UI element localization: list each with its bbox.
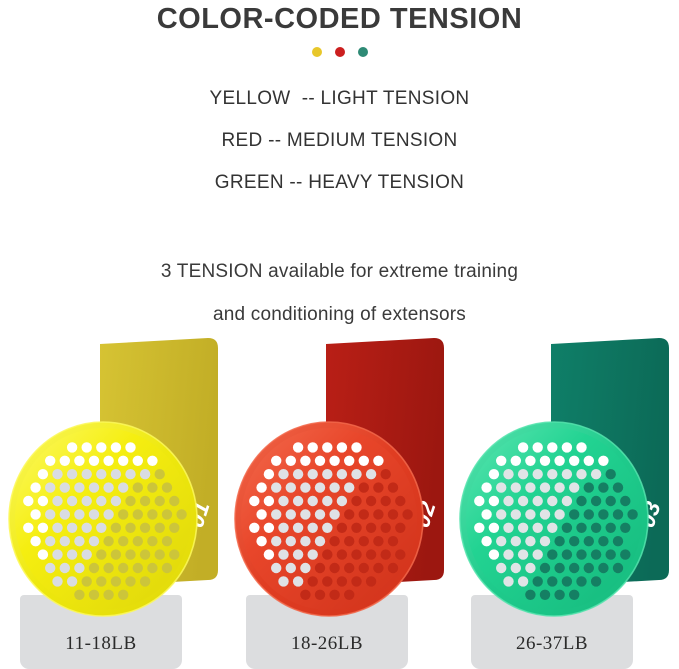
disc-hole xyxy=(359,509,369,519)
header: COLOR-CODED TENSION xyxy=(0,0,679,58)
disc-hole xyxy=(503,576,513,586)
resistance-disc[interactable] xyxy=(6,419,200,619)
disc-hole xyxy=(359,456,369,466)
disc-hole xyxy=(554,509,564,519)
disc-hole xyxy=(155,523,165,533)
disc-hole xyxy=(315,482,325,492)
disc-hole xyxy=(540,509,550,519)
disc-hole xyxy=(89,482,99,492)
disc-hole xyxy=(256,482,266,492)
disc-hole xyxy=(562,576,572,586)
disc-hole xyxy=(140,496,150,506)
disc-hole xyxy=(562,523,572,533)
disc-hole xyxy=(366,496,376,506)
disc-hole xyxy=(60,456,70,466)
disc-hole xyxy=(337,576,347,586)
disc-hole xyxy=(598,482,608,492)
disc-hole xyxy=(481,509,491,519)
tension-legend-list: YELLOW -- LIGHT TENSIONRED -- MEDIUM TEN… xyxy=(0,78,679,204)
legend-dot-row xyxy=(0,46,679,58)
disc-hole xyxy=(598,563,608,573)
disc-hole xyxy=(576,442,586,452)
description-block: 3 TENSION available for extreme training… xyxy=(0,250,679,336)
tension-line-1: RED -- MEDIUM TENSION xyxy=(0,120,679,162)
green-dot xyxy=(358,47,368,57)
disc-hole xyxy=(96,469,106,479)
disc-hole xyxy=(366,523,376,533)
disc-hole xyxy=(155,549,165,559)
disc-hole xyxy=(147,536,157,546)
disc-hole xyxy=(598,509,608,519)
disc-hole xyxy=(620,523,630,533)
disc-hole xyxy=(547,442,557,452)
disc-hole xyxy=(496,563,506,573)
disc-hole xyxy=(147,509,157,519)
disc-hole xyxy=(503,469,513,479)
disc-hole xyxy=(67,523,77,533)
disc-hole xyxy=(344,482,354,492)
disc-hole xyxy=(74,456,84,466)
disc-hole xyxy=(300,536,310,546)
disc-hole xyxy=(518,549,528,559)
disc-hole xyxy=(540,536,550,546)
disc-hole xyxy=(315,456,325,466)
disc-hole xyxy=(52,576,62,586)
disc-hole xyxy=(140,523,150,533)
disc-hole xyxy=(74,482,84,492)
disc-hole xyxy=(518,469,528,479)
disc-hole xyxy=(308,469,318,479)
disc-hole xyxy=(322,442,332,452)
disc-hole xyxy=(155,469,165,479)
disc-hole xyxy=(533,496,543,506)
disc-hole xyxy=(373,536,383,546)
disc-hole xyxy=(60,536,70,546)
disc-hole xyxy=(300,563,310,573)
disc-hole xyxy=(540,482,550,492)
disc-hole xyxy=(337,523,347,533)
disc-hole xyxy=(162,536,172,546)
disc-hole xyxy=(344,563,354,573)
disc-hole xyxy=(591,469,601,479)
disc-hole xyxy=(147,563,157,573)
disc-hole xyxy=(359,536,369,546)
disc-hole xyxy=(293,442,303,452)
disc-hole xyxy=(308,442,318,452)
perforated-disc xyxy=(457,419,651,619)
disc-hole xyxy=(38,469,48,479)
disc-hole xyxy=(373,456,383,466)
perforated-disc xyxy=(232,419,426,619)
disc-hole xyxy=(118,563,128,573)
disc-hole xyxy=(89,536,99,546)
disc-hole xyxy=(576,523,586,533)
disc-hole xyxy=(576,496,586,506)
disc-hole xyxy=(169,523,179,533)
disc-hole xyxy=(388,536,398,546)
disc-hole xyxy=(293,576,303,586)
disc-hole xyxy=(351,523,361,533)
disc-hole xyxy=(293,469,303,479)
disc-hole xyxy=(474,496,484,506)
disc-hole xyxy=(351,549,361,559)
disc-hole xyxy=(103,536,113,546)
disc-hole xyxy=(125,496,135,506)
disc-hole xyxy=(381,549,391,559)
disc-hole xyxy=(503,549,513,559)
disc-hole xyxy=(271,536,281,546)
disc-hole xyxy=(329,482,339,492)
resistance-disc[interactable] xyxy=(457,419,651,619)
disc-hole xyxy=(569,456,579,466)
disc-hole xyxy=(67,576,77,586)
disc-hole xyxy=(264,523,274,533)
disc-hole xyxy=(533,469,543,479)
disc-hole xyxy=(52,496,62,506)
disc-hole xyxy=(584,456,594,466)
disc-hole xyxy=(96,496,106,506)
yellow-dot xyxy=(312,47,322,57)
disc-hole xyxy=(103,456,113,466)
disc-hole xyxy=(89,590,99,600)
disc-hole xyxy=(45,536,55,546)
disc-hole xyxy=(256,536,266,546)
disc-hole xyxy=(576,469,586,479)
disc-hole xyxy=(67,469,77,479)
disc-hole xyxy=(344,456,354,466)
disc-hole xyxy=(591,576,601,586)
disc-hole xyxy=(496,482,506,492)
disc-hole xyxy=(111,549,121,559)
disc-hole xyxy=(584,536,594,546)
disc-hole xyxy=(627,509,637,519)
disc-hole xyxy=(366,469,376,479)
disc-hole xyxy=(351,442,361,452)
disc-hole xyxy=(481,536,491,546)
disc-hole xyxy=(60,563,70,573)
disc-hole xyxy=(256,509,266,519)
disc-hole xyxy=(322,523,332,533)
disc-hole xyxy=(264,496,274,506)
disc-hole xyxy=(569,590,579,600)
disc-hole xyxy=(103,509,113,519)
disc-hole xyxy=(518,496,528,506)
disc-hole xyxy=(569,536,579,546)
disc-hole xyxy=(308,496,318,506)
disc-hole xyxy=(329,456,339,466)
disc-hole xyxy=(162,563,172,573)
disc-hole xyxy=(89,456,99,466)
disc-hole xyxy=(518,576,528,586)
product-row: 11-18LB0118-26LB0226-37LB03 xyxy=(0,335,679,669)
disc-hole xyxy=(286,536,296,546)
disc-hole xyxy=(118,536,128,546)
disc-hole xyxy=(337,549,347,559)
disc-hole xyxy=(373,563,383,573)
disc-hole xyxy=(481,482,491,492)
disc-hole xyxy=(125,469,135,479)
disc-hole xyxy=(525,536,535,546)
disc-hole xyxy=(373,482,383,492)
disc-hole xyxy=(82,496,92,506)
disc-hole xyxy=(308,576,318,586)
disc-hole xyxy=(337,442,347,452)
disc-hole xyxy=(111,442,121,452)
disc-hole xyxy=(554,456,564,466)
disc-hole xyxy=(118,509,128,519)
disc-hole xyxy=(52,523,62,533)
disc-hole xyxy=(518,442,528,452)
disc-hole xyxy=(82,549,92,559)
disc-hole xyxy=(395,496,405,506)
disc-hole xyxy=(373,509,383,519)
disc-hole xyxy=(381,469,391,479)
disc-hole xyxy=(547,469,557,479)
page-title: COLOR-CODED TENSION xyxy=(0,0,679,36)
disc-hole xyxy=(554,563,564,573)
disc-hole xyxy=(322,549,332,559)
disc-hole xyxy=(381,523,391,533)
disc-hole xyxy=(525,509,535,519)
disc-hole xyxy=(118,482,128,492)
disc-hole xyxy=(496,536,506,546)
disc-hole xyxy=(74,563,84,573)
disc-hole xyxy=(169,549,179,559)
disc-hole xyxy=(308,549,318,559)
disc-hole xyxy=(351,576,361,586)
disc-hole xyxy=(511,509,521,519)
disc-hole xyxy=(45,456,55,466)
disc-hole xyxy=(576,549,586,559)
disc-hole xyxy=(540,456,550,466)
disc-hole xyxy=(322,576,332,586)
disc-hole xyxy=(315,536,325,546)
disc-hole xyxy=(503,523,513,533)
disc-hole xyxy=(249,496,259,506)
product-card-01[interactable]: 11-18LB01 xyxy=(2,335,228,669)
red-dot xyxy=(335,47,345,57)
disc-hole xyxy=(278,523,288,533)
disc-hole xyxy=(147,456,157,466)
disc-hole xyxy=(67,549,77,559)
disc-hole xyxy=(547,549,557,559)
disc-hole xyxy=(96,523,106,533)
disc-hole xyxy=(344,536,354,546)
disc-hole xyxy=(613,509,623,519)
disc-hole xyxy=(52,469,62,479)
disc-hole xyxy=(511,456,521,466)
disc-hole xyxy=(118,590,128,600)
disc-hole xyxy=(133,536,143,546)
disc-hole xyxy=(38,496,48,506)
disc-hole xyxy=(329,509,339,519)
disc-hole xyxy=(598,456,608,466)
product-card-02[interactable]: 18-26LB02 xyxy=(228,335,454,669)
tension-range-label: 18-26LB xyxy=(246,633,408,655)
disc-hole xyxy=(293,496,303,506)
disc-hole xyxy=(337,496,347,506)
disc-hole xyxy=(489,496,499,506)
disc-hole xyxy=(74,536,84,546)
disc-hole xyxy=(584,563,594,573)
disc-hole xyxy=(584,509,594,519)
disc-hole xyxy=(82,469,92,479)
disc-hole xyxy=(344,590,354,600)
disc-hole xyxy=(525,456,535,466)
disc-hole xyxy=(89,509,99,519)
disc-hole xyxy=(300,590,310,600)
disc-hole xyxy=(278,496,288,506)
disc-hole xyxy=(329,536,339,546)
disc-hole xyxy=(23,496,33,506)
disc-hole xyxy=(249,523,259,533)
disc-hole xyxy=(38,549,48,559)
disc-hole xyxy=(620,496,630,506)
disc-hole xyxy=(271,509,281,519)
disc-hole xyxy=(554,590,564,600)
disc-hole xyxy=(562,469,572,479)
disc-hole xyxy=(606,469,616,479)
disc-hole xyxy=(511,563,521,573)
disc-hole xyxy=(30,509,40,519)
disc-hole xyxy=(278,549,288,559)
disc-hole xyxy=(140,576,150,586)
disc-hole xyxy=(23,523,33,533)
disc-hole xyxy=(388,563,398,573)
disc-hole xyxy=(286,563,296,573)
disc-hole xyxy=(111,469,121,479)
disc-hole xyxy=(133,482,143,492)
description-line-0: 3 TENSION available for extreme training xyxy=(0,250,679,293)
disc-hole xyxy=(540,590,550,600)
disc-hole xyxy=(489,523,499,533)
tension-range-label: 26-37LB xyxy=(471,633,633,655)
disc-hole xyxy=(293,523,303,533)
disc-hole xyxy=(125,576,135,586)
disc-hole xyxy=(547,576,557,586)
product-card-03[interactable]: 26-37LB03 xyxy=(453,335,679,669)
disc-hole xyxy=(45,482,55,492)
disc-hole xyxy=(606,523,616,533)
disc-hole xyxy=(525,482,535,492)
disc-hole xyxy=(45,563,55,573)
disc-hole xyxy=(74,509,84,519)
disc-hole xyxy=(140,549,150,559)
disc-hole xyxy=(103,482,113,492)
disc-hole xyxy=(569,563,579,573)
disc-hole xyxy=(67,496,77,506)
disc-hole xyxy=(67,442,77,452)
disc-hole xyxy=(395,523,405,533)
disc-hole xyxy=(496,509,506,519)
disc-hole xyxy=(547,523,557,533)
disc-hole xyxy=(613,482,623,492)
disc-hole xyxy=(125,549,135,559)
tension-line-0: YELLOW -- LIGHT TENSION xyxy=(0,78,679,120)
disc-hole xyxy=(74,590,84,600)
disc-hole xyxy=(162,509,172,519)
disc-hole xyxy=(300,509,310,519)
disc-hole xyxy=(264,469,274,479)
disc-hole xyxy=(489,549,499,559)
disc-hole xyxy=(366,549,376,559)
disc-hole xyxy=(133,563,143,573)
disc-hole xyxy=(162,482,172,492)
disc-hole xyxy=(89,563,99,573)
disc-hole xyxy=(300,482,310,492)
disc-hole xyxy=(359,563,369,573)
disc-hole xyxy=(569,482,579,492)
disc-hole xyxy=(518,523,528,533)
disc-hole xyxy=(525,590,535,600)
disc-hole xyxy=(474,523,484,533)
disc-hole xyxy=(125,442,135,452)
disc-hole xyxy=(293,549,303,559)
disc-hole xyxy=(554,482,564,492)
disc-hole xyxy=(82,523,92,533)
disc-hole xyxy=(351,469,361,479)
disc-hole xyxy=(533,442,543,452)
disc-hole xyxy=(351,496,361,506)
disc-hole xyxy=(613,536,623,546)
disc-hole xyxy=(591,496,601,506)
disc-hole xyxy=(125,523,135,533)
disc-hole xyxy=(533,576,543,586)
disc-hole xyxy=(286,456,296,466)
disc-hole xyxy=(60,482,70,492)
disc-hole xyxy=(547,496,557,506)
disc-hole xyxy=(96,442,106,452)
disc-hole xyxy=(133,456,143,466)
disc-hole xyxy=(140,469,150,479)
disc-hole xyxy=(271,456,281,466)
perforated-disc xyxy=(6,419,200,619)
description-line-1: and conditioning of extensors xyxy=(0,293,679,336)
disc-hole xyxy=(118,456,128,466)
disc-hole xyxy=(111,523,121,533)
disc-hole xyxy=(395,549,405,559)
resistance-disc[interactable] xyxy=(232,419,426,619)
tension-range-label: 11-18LB xyxy=(20,633,182,655)
disc-hole xyxy=(45,509,55,519)
disc-hole xyxy=(337,469,347,479)
disc-hole xyxy=(606,496,616,506)
disc-hole xyxy=(38,523,48,533)
disc-hole xyxy=(388,509,398,519)
disc-hole xyxy=(613,563,623,573)
disc-hole xyxy=(576,576,586,586)
disc-hole xyxy=(82,442,92,452)
disc-hole xyxy=(60,509,70,519)
disc-hole xyxy=(540,563,550,573)
disc-hole xyxy=(155,496,165,506)
disc-hole xyxy=(308,523,318,533)
disc-hole xyxy=(82,576,92,586)
disc-hole xyxy=(620,549,630,559)
disc-hole xyxy=(329,590,339,600)
disc-hole xyxy=(584,482,594,492)
disc-hole xyxy=(300,456,310,466)
disc-hole xyxy=(286,482,296,492)
disc-hole xyxy=(315,590,325,600)
disc-hole xyxy=(489,469,499,479)
disc-hole xyxy=(133,509,143,519)
disc-hole xyxy=(176,509,186,519)
disc-hole xyxy=(271,563,281,573)
disc-hole xyxy=(366,576,376,586)
disc-hole xyxy=(96,576,106,586)
disc-hole xyxy=(554,536,564,546)
